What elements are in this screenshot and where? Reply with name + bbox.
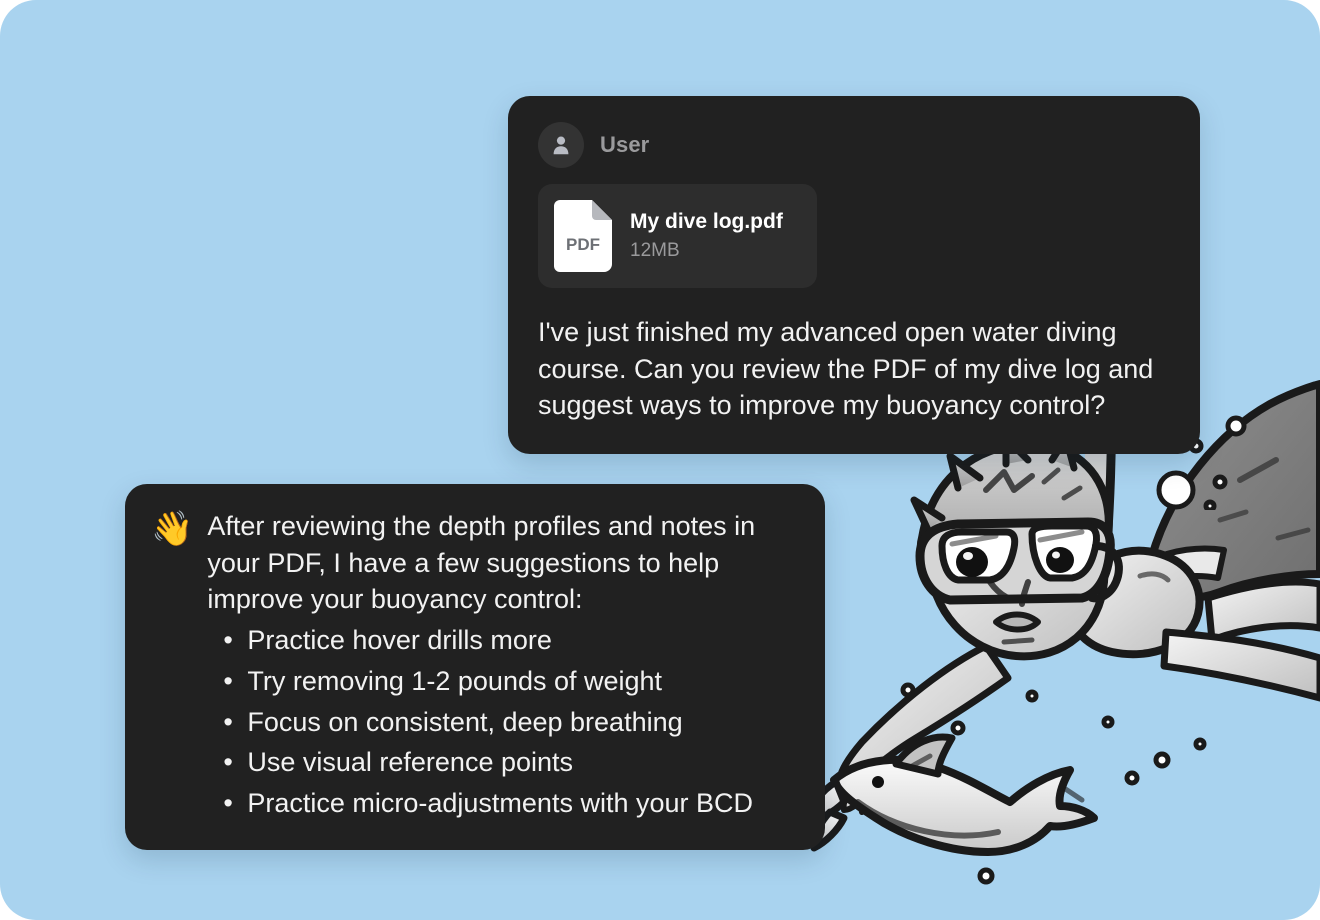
assistant-message-body: After reviewing the depth profiles and n… (207, 508, 797, 822)
list-item: Focus on consistent, deep breathing (207, 704, 797, 741)
attachment-meta: My dive log.pdf 12MB (630, 210, 783, 262)
list-item: Use visual reference points (207, 744, 797, 781)
attachment-file-size: 12MB (630, 240, 783, 262)
attachment-card-pdf[interactable]: PDF My dive log.pdf 12MB (538, 184, 817, 288)
person-icon (549, 133, 573, 157)
fish-illustration (806, 737, 1094, 852)
avatar (538, 122, 584, 168)
user-message-header: User (538, 122, 1170, 168)
assistant-message-bubble: 👋 After reviewing the depth profiles and… (125, 484, 825, 850)
pdf-icon-label: PDF (566, 235, 600, 254)
list-item: Practice hover drills more (207, 622, 797, 659)
list-item: Practice micro-adjustments with your BCD (207, 785, 797, 822)
list-item: Try removing 1-2 pounds of weight (207, 663, 797, 700)
user-message-bubble: User PDF My dive log.pdf 12MB I've just … (508, 96, 1200, 454)
buoyancy-tips-list: Practice hover drills more Try removing … (207, 622, 797, 822)
pdf-file-icon: PDF (554, 200, 612, 272)
waving-hand-emoji: 👋 (151, 510, 193, 548)
author-name: User (600, 132, 649, 158)
user-message-text: I've just finished my advanced open wate… (538, 314, 1170, 424)
page-canvas: User PDF My dive log.pdf 12MB I've just … (0, 0, 1320, 920)
attachment-file-name: My dive log.pdf (630, 210, 783, 234)
assistant-intro-text: After reviewing the depth profiles and n… (207, 508, 797, 618)
